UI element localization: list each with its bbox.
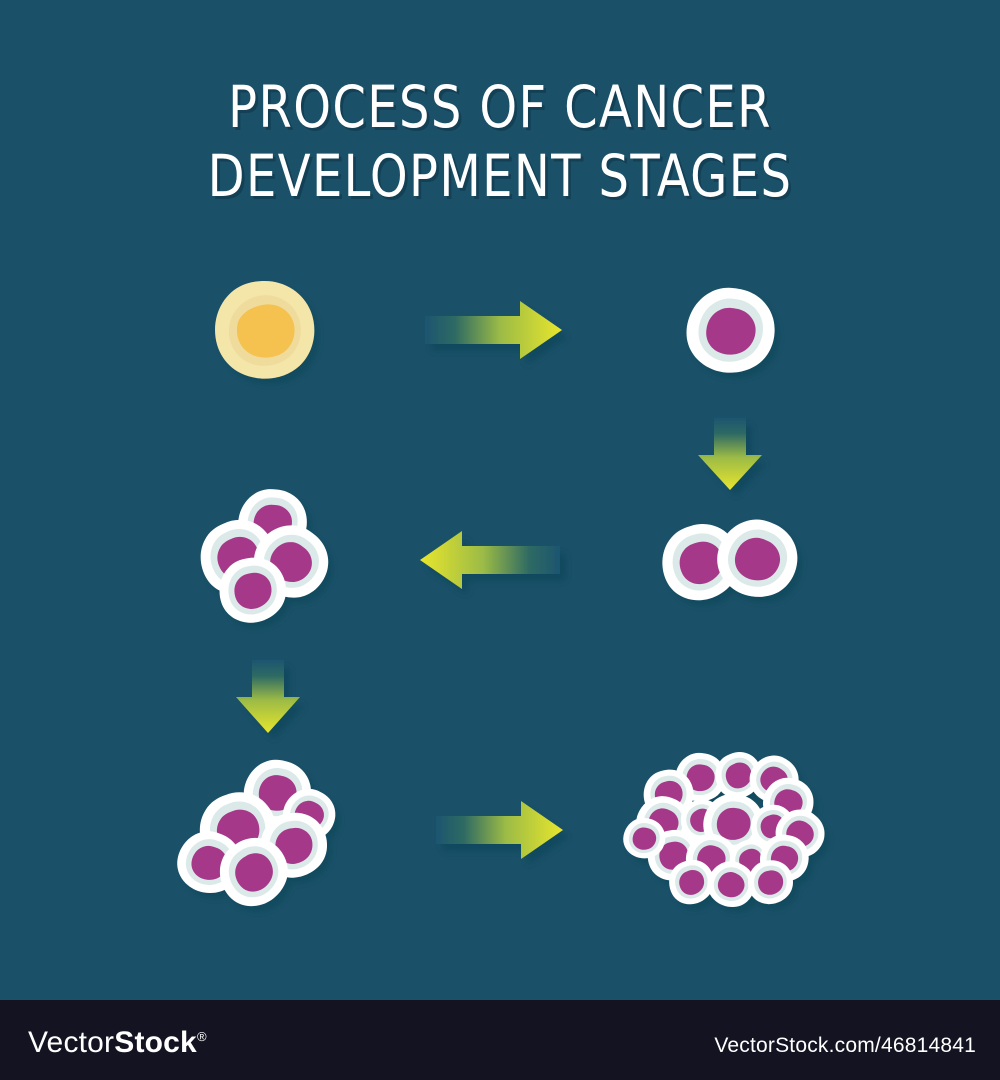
vectorstock-logo: VectorStock® [28, 1026, 207, 1060]
arrow-right-icon [436, 801, 563, 859]
arrow-2-down [698, 418, 762, 490]
arrow-4-down [236, 660, 300, 733]
arrow-left-icon [420, 531, 560, 589]
normal-cell [215, 281, 314, 379]
arrow-right-icon [425, 301, 562, 359]
registered-mark-icon: ® [197, 1029, 207, 1044]
arrow-down-icon [236, 660, 300, 733]
vectorstock-url: VectorStock.com/46814841 [714, 1034, 976, 1058]
title-line-2: DEVELOPMENT STAGES [40, 147, 960, 205]
stage-6-tumor-mass [619, 746, 834, 916]
title-line-1: PROCESS OF CANCER [40, 78, 960, 136]
footer-watermark-bar: VectorStock® VectorStock.com/46814841 [0, 1000, 1000, 1080]
cancer-cell [679, 280, 782, 381]
cancer-cell [705, 507, 809, 610]
arrow-1-right [425, 301, 562, 359]
arrow-5-right [436, 801, 563, 859]
poster-canvas: PROCESS OF CANCER DEVELOPMENT STAGES [0, 0, 1000, 1080]
stage-2-cancer-cell [679, 280, 782, 381]
stage-5-six-cell-cluster [169, 753, 345, 918]
logo-text-bold: Stock [114, 1026, 197, 1059]
arrow-down-icon [698, 418, 762, 490]
arrow-3-left [420, 531, 560, 589]
page-title: PROCESS OF CANCER DEVELOPMENT STAGES [0, 78, 1000, 205]
stage-4-four-cell-cluster [189, 485, 342, 627]
stage-1-normal-cell [215, 281, 314, 379]
stage-3-two-cells [654, 507, 810, 610]
logo-text-light: Vector [28, 1026, 114, 1059]
